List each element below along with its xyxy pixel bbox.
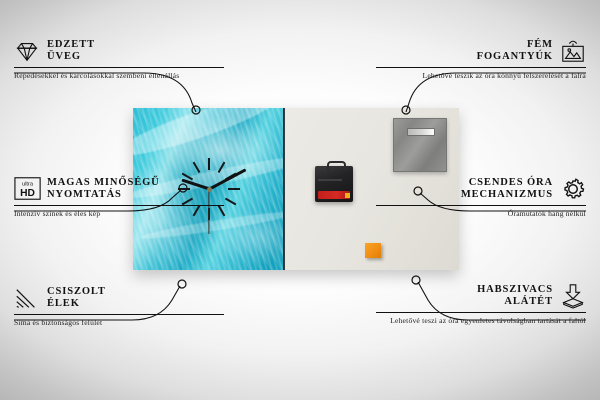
feature-rule xyxy=(14,205,224,206)
mechanism-seam xyxy=(318,179,342,181)
feature-heading: CSISZOLT ÉLEK xyxy=(14,285,224,311)
polished-edges-icon xyxy=(14,285,40,311)
feature-rule xyxy=(14,67,224,68)
picture-hanger-icon xyxy=(560,38,586,64)
feature-title: FÉM FOGANTYÚK xyxy=(477,39,553,64)
diamond-icon xyxy=(14,38,40,64)
ultra-hd-icon: ultra HD xyxy=(14,176,40,202)
feature-description: Óramutatók hang nélkül xyxy=(376,209,586,219)
foam-pad-icon xyxy=(560,283,586,309)
feature-title: HABSZIVACS ALÁTÉT xyxy=(477,284,553,309)
feature-foam-backing: HABSZIVACS ALÁTÉT Lehetővé teszi az óra … xyxy=(376,283,586,326)
hanger-slot xyxy=(407,128,435,136)
product-infographic: EDZETT ÜVEG Repedésekkel és karcolásokka… xyxy=(0,0,600,400)
feature-rule xyxy=(376,205,586,206)
foam-pad xyxy=(365,243,381,258)
ultra-hd-top-text: ultra xyxy=(22,182,34,188)
battery-terminal xyxy=(345,193,350,198)
feature-heading: CSENDES ÓRA MECHANIZMUS xyxy=(376,176,586,202)
metal-hanger-plate xyxy=(393,118,447,172)
feature-polished-edges: CSISZOLT ÉLEK Sima és biztonságos felüle… xyxy=(14,285,224,328)
mechanism-hanger-tab xyxy=(327,161,346,170)
feature-description: Sima és biztonságos felület xyxy=(14,318,224,328)
feature-description: Lehetővé teszik az óra könnyű felszerelé… xyxy=(376,71,586,81)
feature-title: CSENDES ÓRA MECHANIZMUS xyxy=(461,177,553,202)
feature-heading: ultra HD MAGAS MINŐSÉGŰ NYOMTATÁS xyxy=(14,176,224,202)
gear-icon xyxy=(560,176,586,202)
feature-heading: FÉM FOGANTYÚK xyxy=(376,38,586,64)
feature-rule xyxy=(376,312,586,313)
feature-heading: HABSZIVACS ALÁTÉT xyxy=(376,283,586,309)
feature-high-quality-print: ultra HD MAGAS MINŐSÉGŰ NYOMTATÁS Intenz… xyxy=(14,176,224,219)
feature-title: CSISZOLT ÉLEK xyxy=(47,286,106,311)
feature-description: Intenzív színek és éles kép xyxy=(14,209,224,219)
feature-silent-mechanism: CSENDES ÓRA MECHANIZMUS Óramutatók hang … xyxy=(376,176,586,219)
feature-description: Repedésekkel és karcolásokkal szembeni e… xyxy=(14,71,224,81)
clock-mechanism xyxy=(315,166,353,202)
feature-heading: EDZETT ÜVEG xyxy=(14,38,224,64)
feature-rule xyxy=(14,314,224,315)
feature-metal-handles: FÉM FOGANTYÚK Lehetővé teszik az óra kön… xyxy=(376,38,586,81)
feature-title: MAGAS MINŐSÉGŰ NYOMTATÁS xyxy=(47,177,160,202)
feature-description: Lehetővé teszi az óra egyenletes távolsá… xyxy=(376,316,586,326)
feature-tempered-glass: EDZETT ÜVEG Repedésekkel és karcolásokka… xyxy=(14,38,224,81)
ultra-hd-bottom-text: HD xyxy=(20,188,35,199)
feature-rule xyxy=(376,67,586,68)
feature-title: EDZETT ÜVEG xyxy=(47,39,95,64)
